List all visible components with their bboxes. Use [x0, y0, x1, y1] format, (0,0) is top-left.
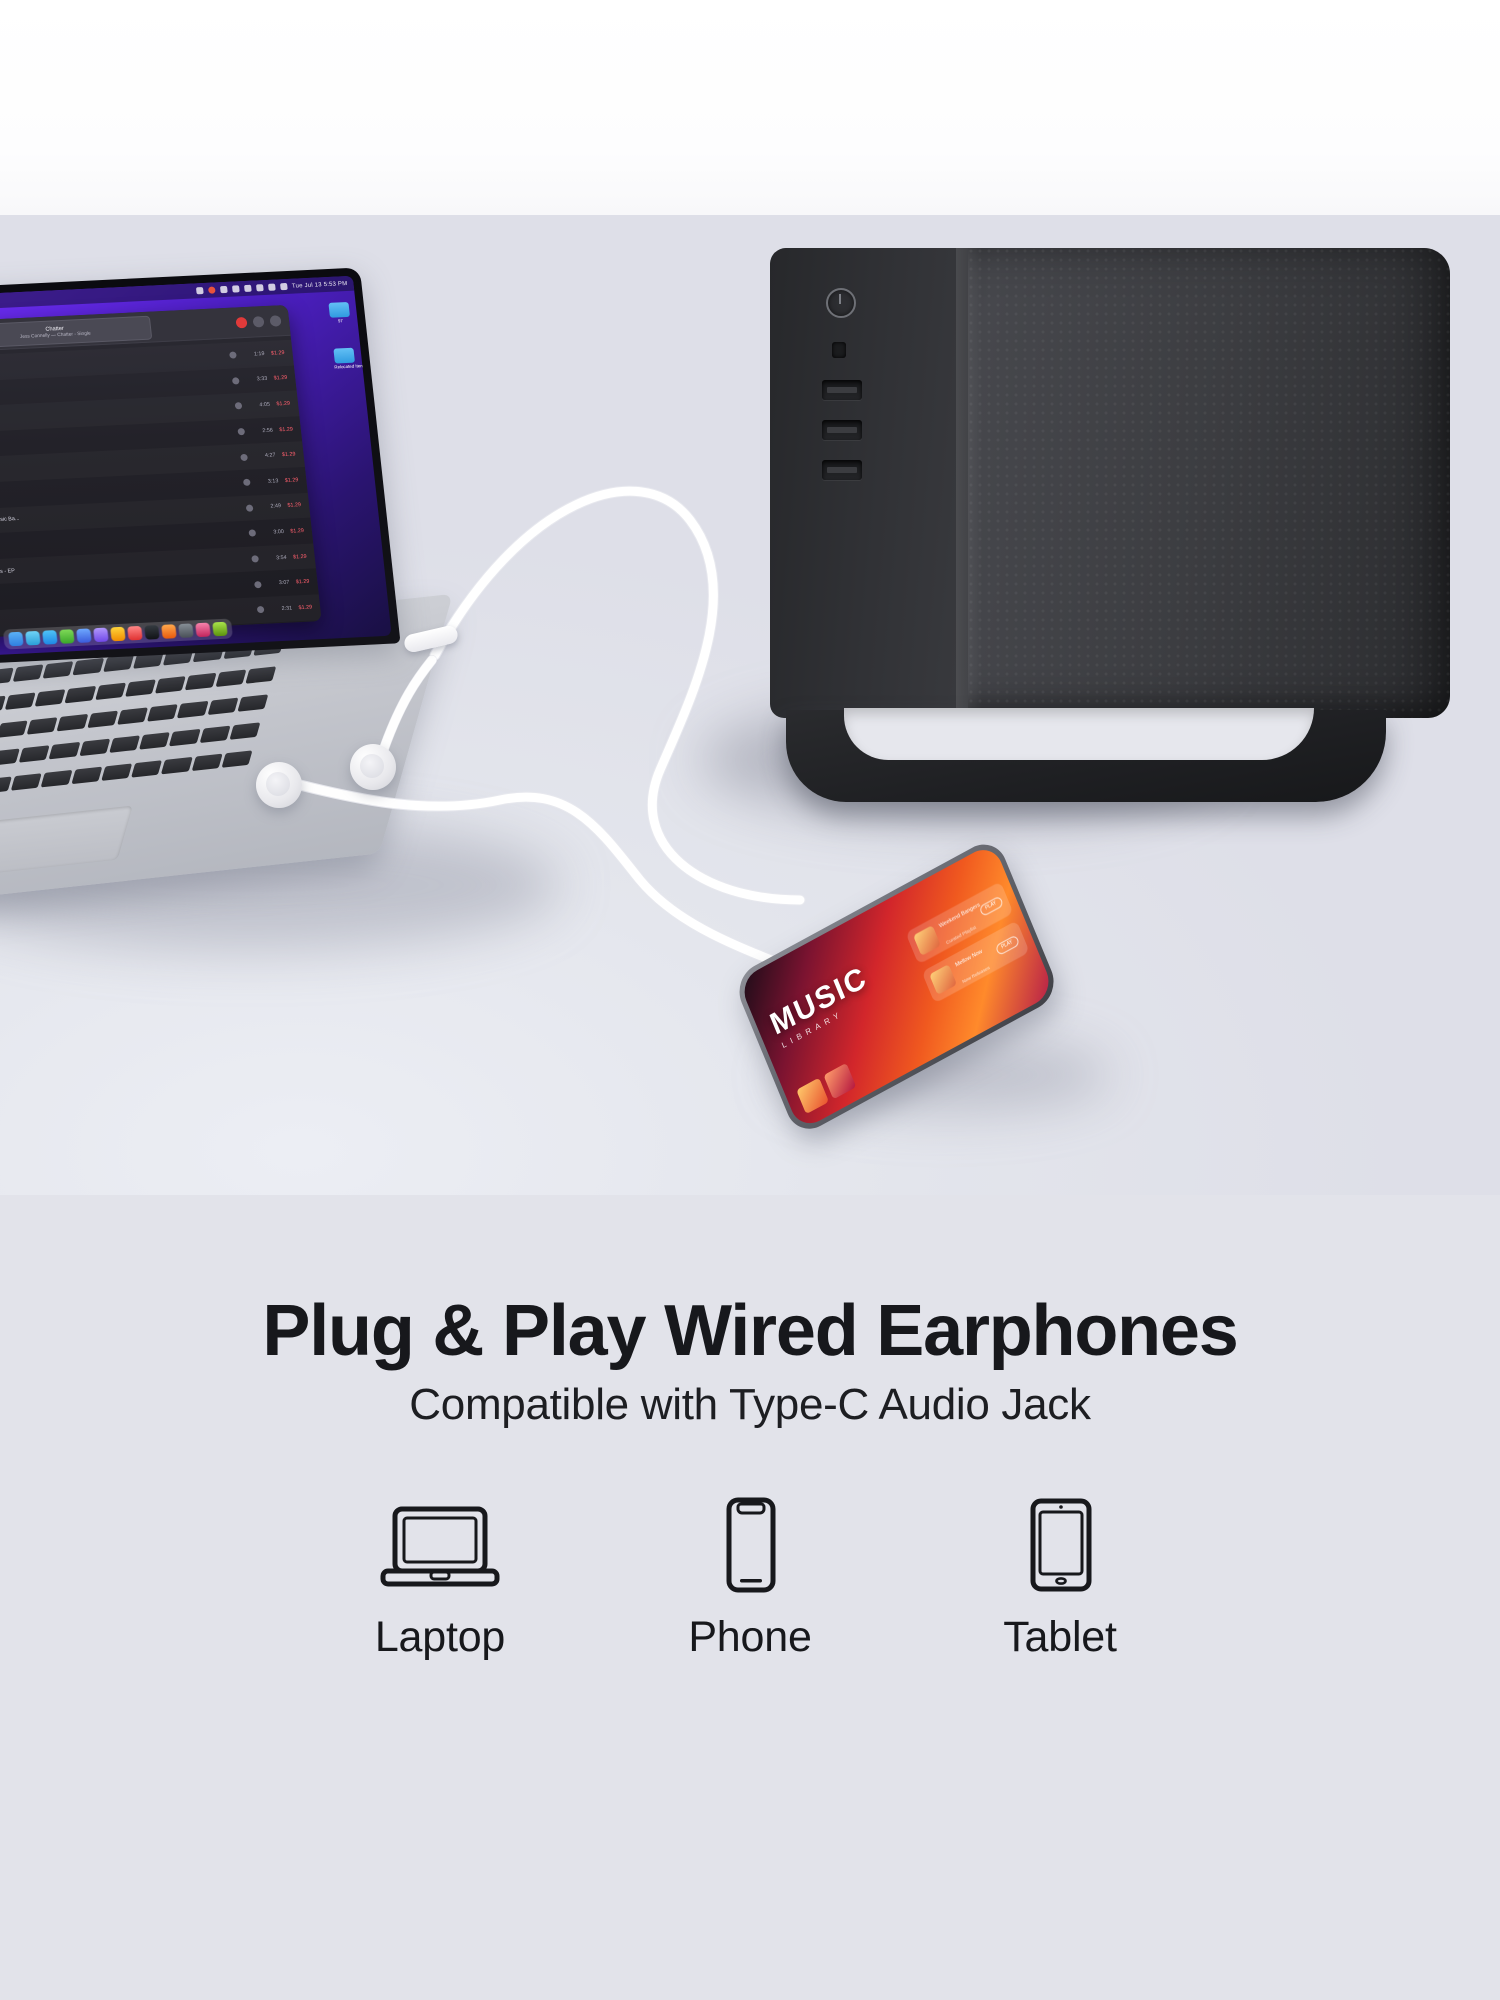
earbud-left	[256, 762, 302, 808]
usb-port-icon[interactable]	[822, 460, 862, 480]
album-thumbnails[interactable]	[796, 1063, 856, 1114]
folder-icon	[333, 348, 355, 364]
trash-icon[interactable]	[212, 622, 228, 637]
headline: Plug & Play Wired Earphones	[0, 1290, 1500, 1372]
background-wall	[0, 0, 1500, 215]
device-label: Laptop	[375, 1613, 505, 1662]
play-icon[interactable]	[260, 632, 268, 639]
bluetooth-icon[interactable]	[232, 285, 240, 292]
track-price[interactable]: $1.29	[278, 477, 299, 484]
playlist-subtitle: New Releases	[962, 966, 991, 985]
tower-foot	[786, 650, 1386, 802]
play-button[interactable]: PLAY	[994, 934, 1020, 956]
play-icon[interactable]	[237, 428, 245, 435]
record-icon[interactable]	[235, 316, 247, 327]
tower-body	[770, 248, 1450, 718]
track-price[interactable]: $1.29	[295, 630, 316, 637]
track-price[interactable]: $1.29	[284, 528, 305, 535]
laptop-icon	[375, 1495, 505, 1595]
track-list[interactable]: SydPin1:19$1.29Kali UchisIsolation3:33$1…	[0, 336, 322, 644]
track-time: 2:36	[273, 631, 296, 638]
usb-port-icon[interactable]	[822, 420, 862, 440]
siri-icon[interactable]	[280, 283, 288, 290]
desktop-icon-97[interactable]: 97	[327, 302, 351, 324]
appstore-icon[interactable]	[195, 623, 211, 638]
device-label: Phone	[688, 1613, 811, 1662]
mail-icon[interactable]	[76, 628, 92, 643]
track-price[interactable]: $1.29	[267, 375, 288, 382]
track-time: 3:00	[262, 529, 285, 536]
play-icon[interactable]	[248, 530, 256, 537]
laptop-screen: Tue Jul 13 5:53 PM 97 Relocated Items	[0, 276, 392, 663]
toolbar-right-controls[interactable]	[235, 315, 281, 328]
usb-port-icon[interactable]	[822, 380, 862, 400]
photos-icon[interactable]	[93, 628, 109, 643]
control-center-icon[interactable]	[196, 287, 204, 294]
playlist-name: Mellow Now	[955, 949, 984, 969]
device-tablet: Tablet	[960, 1495, 1160, 1662]
track-time: 1:19	[242, 351, 265, 358]
earbud-right	[350, 744, 396, 790]
product-marketing-image: Tue Jul 13 5:53 PM 97 Relocated Items	[0, 0, 1500, 2000]
list-view-icon[interactable]	[269, 315, 281, 326]
album-art	[913, 925, 941, 956]
wifi-icon[interactable]	[256, 284, 264, 291]
play-icon[interactable]	[232, 377, 240, 384]
finder-icon[interactable]	[8, 632, 24, 647]
screen-mirroring-icon[interactable]	[220, 286, 228, 293]
shuffle-icon[interactable]	[252, 316, 264, 327]
laptop-lid: Tue Jul 13 5:53 PM 97 Relocated Items	[0, 267, 401, 670]
device-label: Tablet	[1003, 1613, 1117, 1662]
track-price[interactable]: $1.29	[275, 452, 296, 459]
track-time: 2:56	[250, 427, 273, 434]
play-icon[interactable]	[254, 581, 262, 588]
tower-front-panel	[770, 248, 968, 718]
search-icon[interactable]	[268, 284, 276, 291]
messages-icon[interactable]	[59, 629, 75, 644]
tower-mesh-panel	[968, 248, 1450, 718]
album-art[interactable]	[796, 1078, 829, 1115]
play-icon[interactable]	[243, 479, 251, 486]
track-price[interactable]: $1.29	[292, 604, 313, 611]
marketing-section: Plug & Play Wired Earphones Compatible w…	[0, 1195, 1500, 2000]
tower-edge-highlight	[956, 248, 982, 718]
menubar-clock: Tue Jul 13 5:53 PM	[292, 281, 348, 290]
music-app-window: Chatter Jess Connelly — Chatter - Single…	[0, 305, 322, 644]
track-time: 2:31	[270, 605, 293, 612]
desktop-icon-relocated-items[interactable]: Relocated Items	[332, 348, 356, 370]
power-button-icon[interactable]	[826, 288, 856, 318]
play-icon[interactable]	[240, 453, 248, 460]
settings-icon[interactable]	[178, 623, 194, 638]
track-time: 3:13	[256, 478, 279, 485]
device-phone: Phone	[650, 1495, 850, 1662]
tablet-icon	[995, 1495, 1125, 1595]
track-price[interactable]: $1.29	[272, 426, 293, 433]
track-time: 2:49	[259, 503, 282, 510]
product-photo: Tue Jul 13 5:53 PM 97 Relocated Items	[0, 0, 1500, 1195]
play-button[interactable]: PLAY	[978, 895, 1004, 917]
launchpad-icon[interactable]	[25, 631, 41, 646]
safari-icon[interactable]	[42, 630, 58, 645]
folder-icon	[328, 302, 350, 318]
track-time: 3:33	[245, 376, 268, 383]
appletv-icon[interactable]	[144, 625, 160, 640]
track-price[interactable]: $1.29	[286, 553, 307, 560]
notes-icon[interactable]	[110, 627, 126, 642]
phone-icon	[685, 1495, 815, 1595]
keyboard[interactable]	[0, 638, 284, 820]
album-art[interactable]	[823, 1063, 856, 1100]
now-playing-subtitle: Jess Connelly — Chatter - Single	[20, 331, 91, 340]
track-time: 3:54	[264, 554, 287, 561]
track-time: 4:05	[248, 402, 271, 409]
play-icon[interactable]	[235, 403, 243, 410]
music-icon[interactable]	[127, 626, 143, 641]
track-time: 3:07	[267, 580, 290, 587]
podcasts-icon[interactable]	[161, 624, 177, 639]
play-icon[interactable]	[246, 504, 254, 511]
desktop-tower	[770, 248, 1450, 788]
album-art	[929, 964, 957, 995]
desktop-icon-label: Relocated Items	[334, 364, 357, 370]
earbuds	[250, 740, 420, 820]
desktop-icon-label: 97	[329, 318, 352, 324]
battery-icon[interactable]	[244, 285, 252, 292]
play-icon[interactable]	[257, 606, 265, 613]
subheadline: Compatible with Type-C Audio Jack	[0, 1380, 1500, 1430]
track-price[interactable]: $1.29	[289, 579, 310, 586]
track-time: 4:27	[253, 453, 276, 460]
track-price[interactable]: $1.29	[281, 503, 302, 510]
compatible-devices: Laptop Phone	[0, 1495, 1500, 1662]
tower-foot-cutout	[844, 708, 1314, 760]
record-icon[interactable]	[208, 286, 216, 293]
device-laptop: Laptop	[340, 1495, 540, 1662]
headphone-jack-icon[interactable]	[832, 342, 846, 358]
track-price[interactable]: $1.29	[270, 401, 291, 408]
play-icon[interactable]	[251, 555, 259, 562]
track-price[interactable]: $1.29	[264, 350, 285, 357]
trackpad[interactable]	[0, 806, 133, 879]
play-icon[interactable]	[229, 352, 237, 359]
